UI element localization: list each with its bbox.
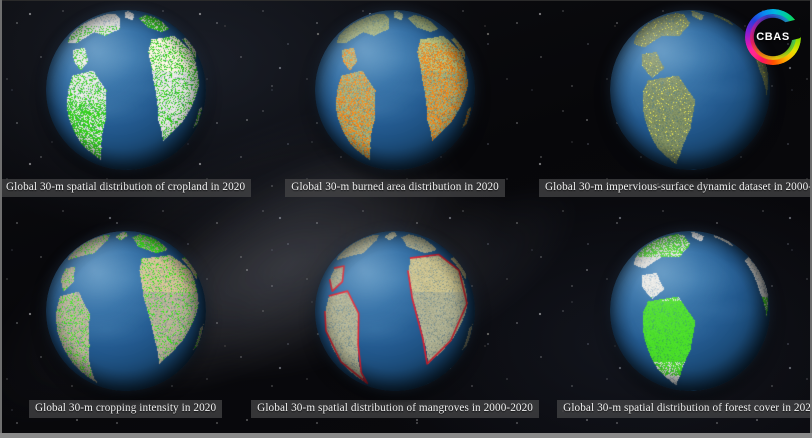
caption-cropland: Global 30-m spatial distribution of crop… (0, 179, 251, 197)
caption-burned-area: Global 30-m burned area distribution in … (285, 179, 505, 197)
globe-surface (46, 10, 206, 170)
panel-forest-cover[interactable]: Global 30-m spatial distribution of fore… (539, 219, 812, 438)
panel-burned-area[interactable]: Global 30-m burned area distribution in … (251, 0, 539, 219)
globe-cropping-intensity[interactable] (46, 231, 206, 391)
globe-grid: Global 30-m spatial distribution of crop… (0, 0, 812, 438)
panel-cropping-intensity[interactable]: Global 30-m cropping intensity in 2020 (0, 219, 251, 438)
frame-top (0, 0, 812, 1)
globe-mangroves[interactable] (315, 231, 475, 391)
frame-left (0, 0, 2, 438)
panel-mangroves[interactable]: Global 30-m spatial distribution of mang… (251, 219, 539, 438)
globe-surface (46, 231, 206, 391)
panel-cropland[interactable]: Global 30-m spatial distribution of crop… (0, 0, 251, 219)
poster-canvas: Global 30-m spatial distribution of crop… (0, 0, 812, 438)
globe-cropland[interactable] (46, 10, 206, 170)
caption-impervious-surface: Global 30-m impervious-surface dynamic d… (539, 179, 812, 197)
globe-surface (315, 10, 475, 170)
globe-forest-cover[interactable] (610, 231, 770, 391)
caption-cropping-intensity: Global 30-m cropping intensity in 2020 (29, 400, 222, 418)
cbas-logo[interactable]: CBAS (745, 9, 801, 65)
logo-text: CBAS (745, 9, 801, 65)
globe-burned-area[interactable] (315, 10, 475, 170)
frame-bottom (0, 433, 812, 438)
caption-forest-cover: Global 30-m spatial distribution of fore… (557, 400, 812, 418)
caption-mangroves: Global 30-m spatial distribution of mang… (251, 400, 539, 418)
globe-surface (315, 231, 475, 391)
globe-surface (610, 231, 770, 391)
